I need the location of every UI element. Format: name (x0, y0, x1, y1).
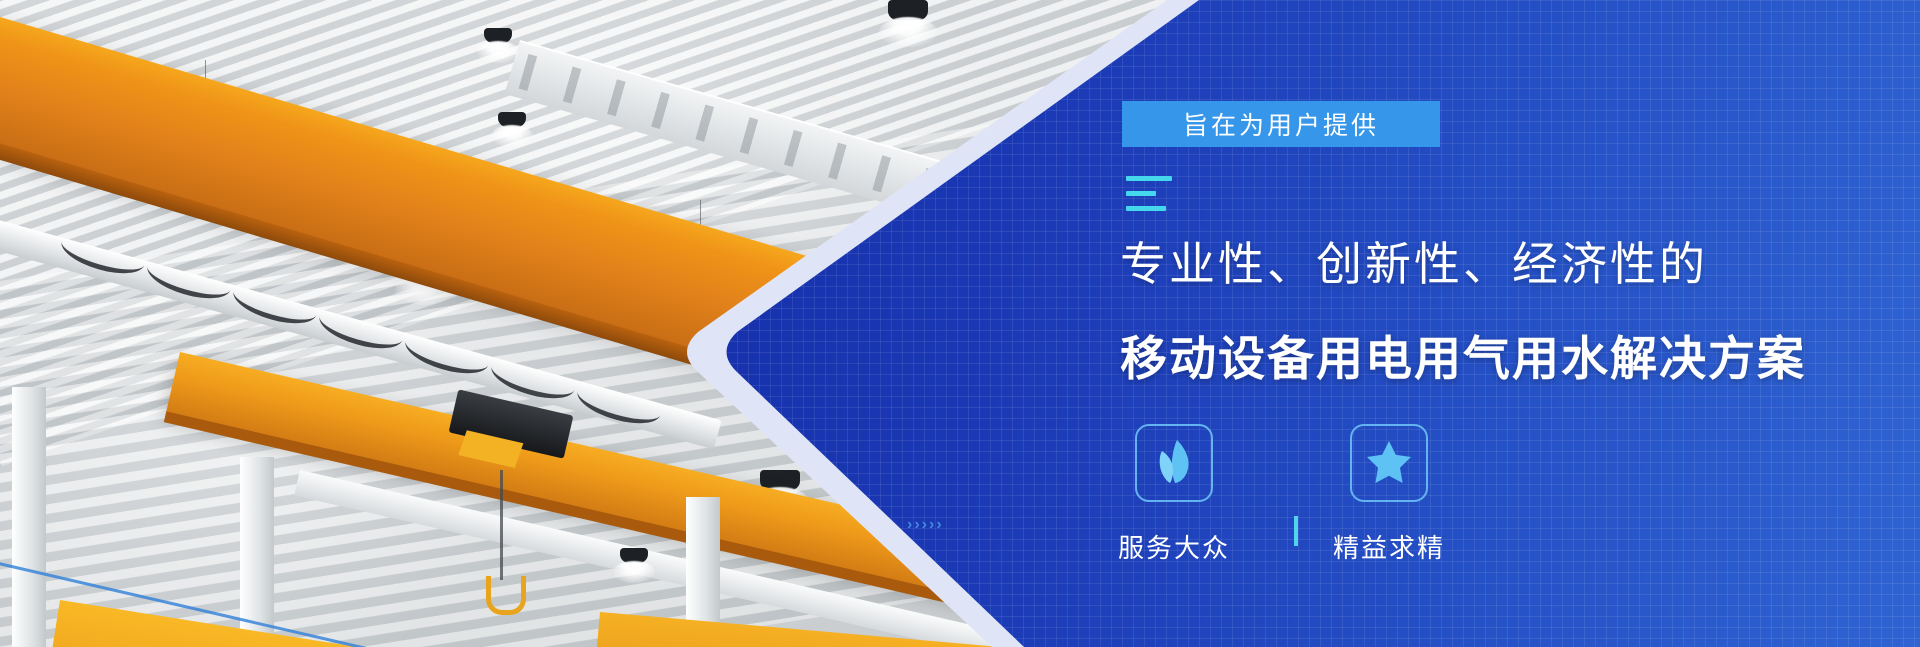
chevron-right-icon: › (907, 517, 912, 533)
chevron-arrows-icon: › › › › › (907, 517, 942, 533)
feature-icon-box (1350, 424, 1428, 502)
headline-line-1: 专业性、创新性、经济性的 (1120, 228, 1708, 294)
feature-label: 服务大众 (1118, 528, 1230, 565)
banner-content: 旨在为用户提供 专业性、创新性、经济性的 移动设备用电用气用水解决方案 (1122, 0, 1920, 647)
high-bay-lamp (484, 28, 512, 43)
chevron-right-icon: › (914, 517, 919, 533)
high-bay-lamp (498, 112, 526, 127)
feature-list: 服务大众 精益求精 (1122, 424, 1441, 565)
wall-column (12, 387, 46, 647)
feature-label: 精益求精 (1333, 528, 1445, 565)
high-bay-lamp (888, 0, 928, 20)
hero-banner: 旨在为用户提供 专业性、创新性、经济性的 移动设备用电用气用水解决方案 (0, 0, 1920, 647)
tagline-badge: 旨在为用户提供 (1122, 101, 1440, 147)
high-bay-lamp (620, 548, 648, 563)
leaf-icon (1153, 438, 1195, 489)
crane-hook (500, 470, 503, 580)
feature-icon-box (1135, 424, 1213, 502)
chevron-right-icon: › (922, 517, 927, 533)
feature-item-excellence[interactable]: 精益求精 (1337, 424, 1441, 565)
star-icon (1366, 439, 1412, 488)
chevron-right-icon: › (929, 517, 934, 533)
decorative-lines (1126, 176, 1172, 221)
chevron-right-icon: › (936, 517, 941, 533)
headline-line-2: 移动设备用电用气用水解决方案 (1120, 320, 1806, 389)
decorative-line (1126, 176, 1172, 181)
feature-item-service[interactable]: 服务大众 (1122, 424, 1226, 565)
decorative-line (1126, 206, 1166, 211)
tagline-badge-text: 旨在为用户提供 (1183, 106, 1379, 142)
decorative-line (1126, 191, 1156, 196)
feature-divider (1294, 516, 1298, 546)
